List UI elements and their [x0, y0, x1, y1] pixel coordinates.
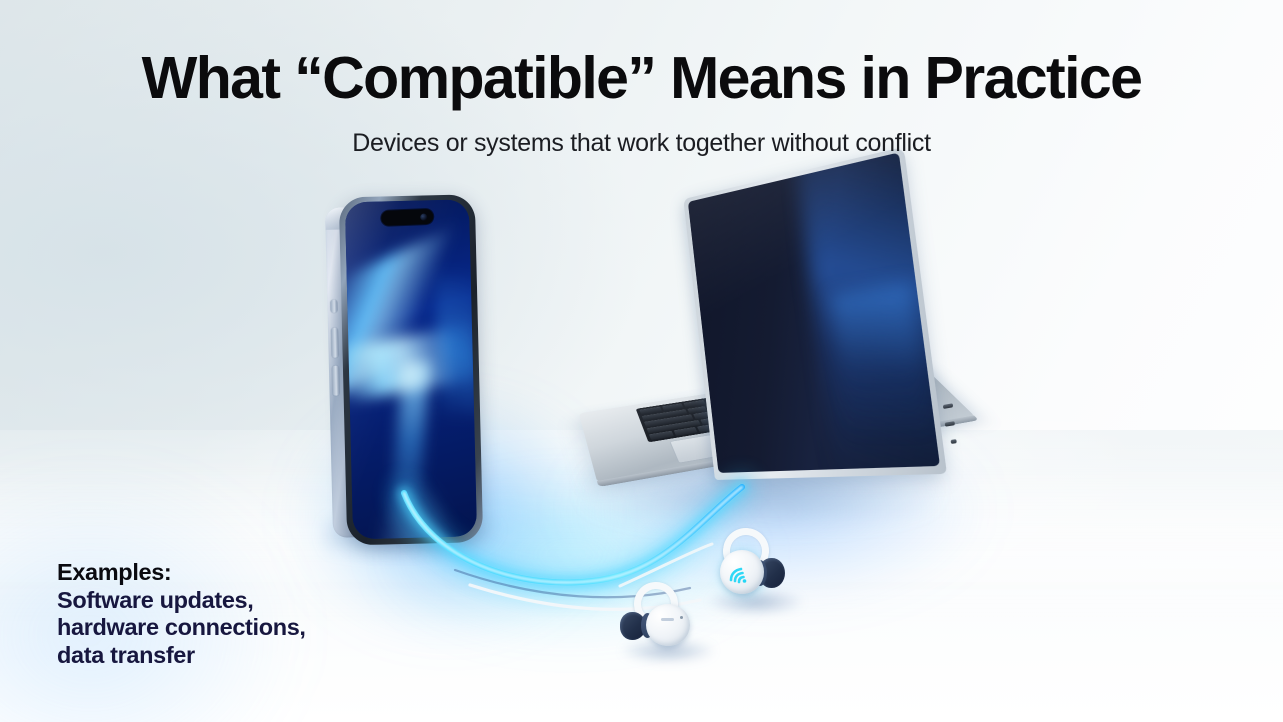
screen-sheen	[688, 152, 940, 472]
phone-screen	[345, 199, 477, 539]
page-title: What “Compatible” Means in Practice	[0, 44, 1283, 112]
front-camera-icon	[420, 213, 427, 220]
usb-c-port-icon	[945, 421, 955, 427]
examples-heading: Examples:	[57, 559, 306, 587]
laptop-lid	[683, 147, 947, 480]
earbud-status-led	[680, 616, 683, 619]
headphone-port-icon	[951, 439, 957, 444]
volume-down-button	[332, 366, 340, 396]
mute-switch-icon	[330, 300, 337, 313]
usb-c-port-icon	[943, 403, 953, 409]
laptop-device	[575, 190, 955, 540]
earbud-right	[706, 528, 806, 614]
phone-chassis	[339, 194, 483, 545]
slide-canvas: What “Compatible” Means in Practice Devi…	[0, 0, 1283, 722]
dynamic-island	[381, 209, 434, 226]
laptop-screen	[688, 152, 940, 472]
wireless-signal-icon	[724, 556, 754, 586]
examples-line: Software updates,	[57, 587, 306, 615]
page-subtitle: Devices or systems that work together wi…	[0, 129, 1283, 158]
examples-line: hardware connections,	[57, 614, 306, 642]
examples-line: data transfer	[57, 642, 306, 670]
earbud-left	[620, 582, 720, 664]
earbud-housing	[646, 604, 690, 646]
earbuds-pair	[610, 522, 840, 672]
earbud-seam	[661, 618, 674, 621]
smartphone-device	[325, 194, 483, 546]
examples-block: Examples: Software updates, hardware con…	[57, 559, 306, 669]
volume-up-button	[331, 328, 339, 358]
phone-screen-sheen	[345, 199, 477, 539]
